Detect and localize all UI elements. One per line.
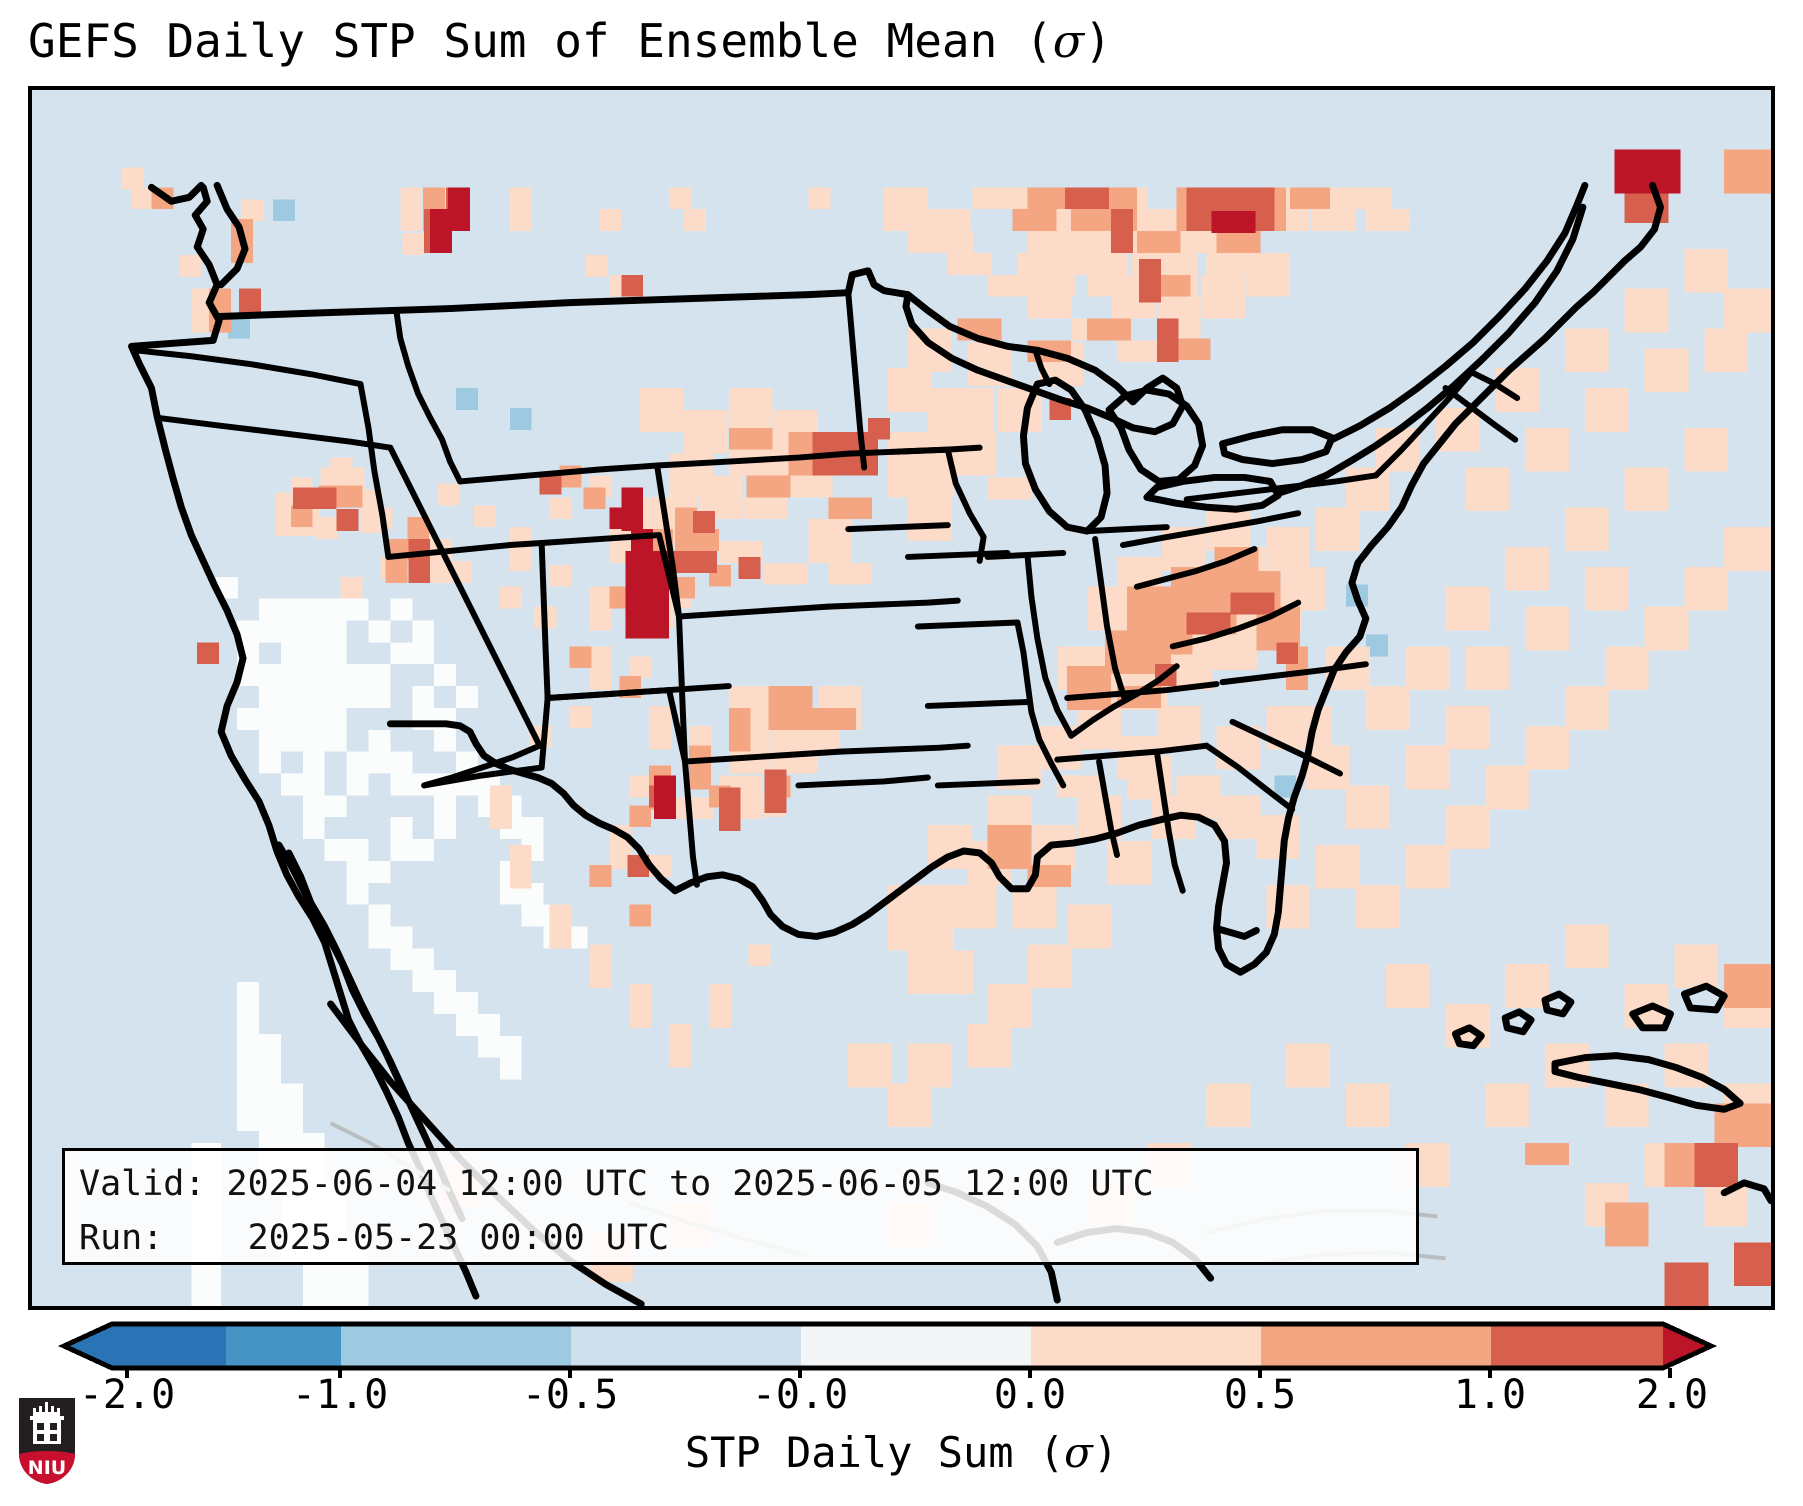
colorbar-label-before: STP Daily Sum ( [685,1428,1064,1477]
colorbar-under-arrow [64,1324,112,1368]
colorbar-axis-label: STP Daily Sum (σ) [0,1428,1803,1477]
colorbar-tick-6: 1.0 [1454,1372,1526,1418]
colorbar-bin-5 [1031,1324,1261,1368]
colorbar-tick-1: -1.0 [292,1372,388,1418]
map-svg [32,90,1771,1306]
colorbar-tick-2: -0.5 [522,1372,618,1418]
niu-castle-icon [30,1402,64,1444]
run-time-line: Run: 2025-05-23 00:00 UTC [79,1211,1402,1265]
colorbar-bin-6 [1261,1324,1491,1368]
colorbar-svg [0,1318,1803,1378]
colorbar-tick-7: 2.0 [1636,1372,1708,1418]
colorbar-label-after: ) [1093,1428,1118,1477]
valid-run-info-box: Valid: 2025-06-04 12:00 UTC to 2025-06-0… [62,1148,1419,1265]
colorbar-bin-2 [341,1324,571,1368]
niu-logo: NIU [16,1396,78,1486]
colorbar-tick-4: 0.0 [994,1372,1066,1418]
colorbar-tick-labels: -2.0 -1.0 -0.5 -0.0 0.0 0.5 1.0 2.0 [0,1372,1803,1432]
page-title: GEFS Daily STP Sum of Ensemble Mean (σ) [28,14,1112,68]
colorbar[interactable] [0,1318,1803,1378]
title-text-after: ) [1084,14,1112,68]
colorbar-tick-5: 0.5 [1224,1372,1296,1418]
valid-time-line: Valid: 2025-06-04 12:00 UTC to 2025-06-0… [79,1157,1402,1211]
colorbar-bin-0 [112,1324,226,1368]
title-sigma: σ [1053,14,1084,68]
colorbar-bin-7 [1491,1324,1663,1368]
colorbar-bin-3 [571,1324,801,1368]
colorbar-tick-0: -2.0 [79,1372,175,1418]
colorbar-over-arrow [1663,1324,1711,1368]
colorbar-bin-4 [801,1324,1031,1368]
colorbar-tick-3: -0.0 [752,1372,848,1418]
colorbar-bin-1 [226,1324,341,1368]
niu-logo-text: NIU [28,1457,66,1479]
title-text-before: GEFS Daily STP Sum of Ensemble Mean ( [28,14,1053,68]
map-plot-area [28,86,1775,1310]
colorbar-label-sigma: σ [1064,1428,1093,1477]
